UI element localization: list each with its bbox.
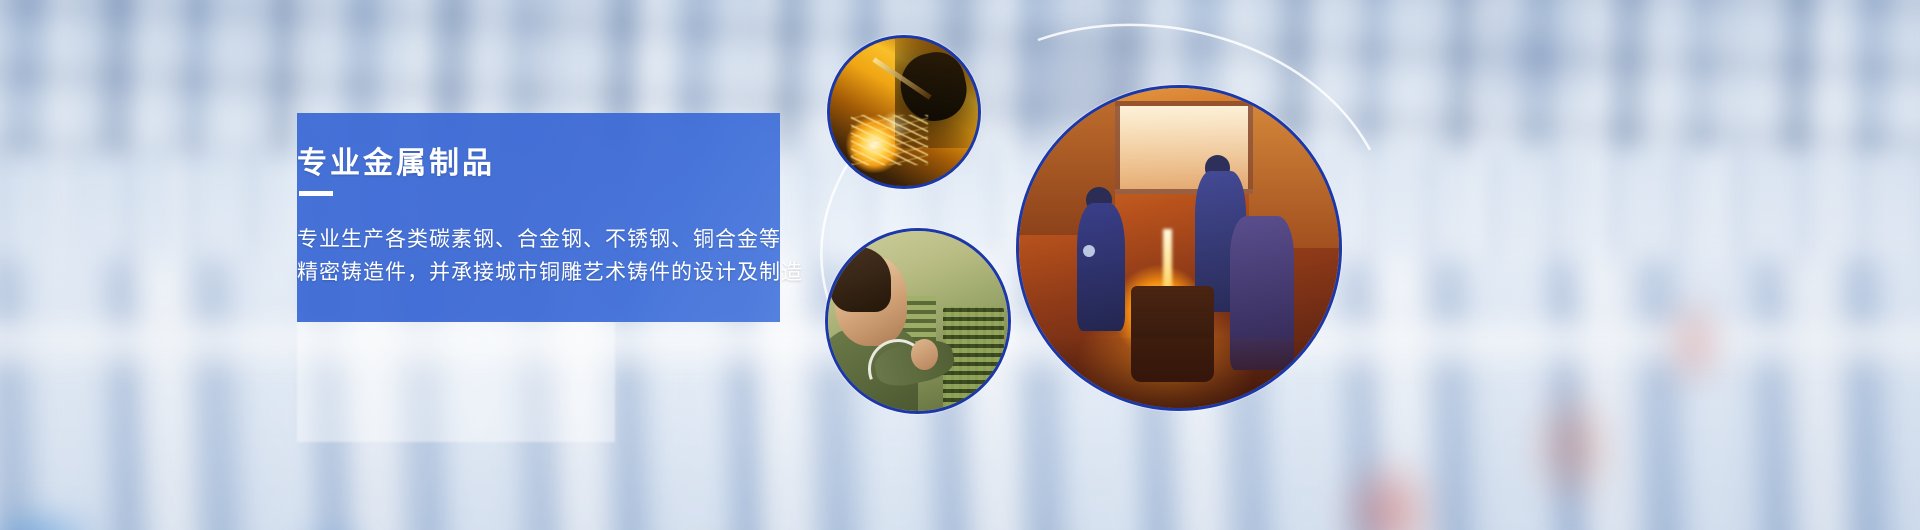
subtitle-line-2: 精密铸造件，并承接城市铜雕艺术铸件的设计及制造 (297, 256, 803, 289)
worker-assembly-photo (825, 228, 1011, 414)
title-divider (299, 191, 333, 196)
weld-sparks (851, 115, 928, 165)
foundry-pour-photo (1016, 85, 1342, 411)
page-title: 专业金属制品 (297, 138, 495, 182)
hero-banner: 专业金属制品 专业生产各类碳素钢、合金钢、不锈钢、铜合金等 精密铸造件，并承接城… (0, 0, 1920, 530)
welding-sparks-photo (827, 35, 981, 189)
worker-hand (911, 339, 938, 370)
foundry-floor (1019, 338, 1339, 408)
foundry-worker-1 (1077, 203, 1125, 331)
subtitle-line-1: 专业生产各类碳素钢、合金钢、不锈钢、铜合金等 (297, 223, 781, 256)
worker-hair (830, 247, 891, 312)
pale-accent-panel (297, 320, 615, 442)
foundry-worker-badge (1083, 245, 1095, 257)
